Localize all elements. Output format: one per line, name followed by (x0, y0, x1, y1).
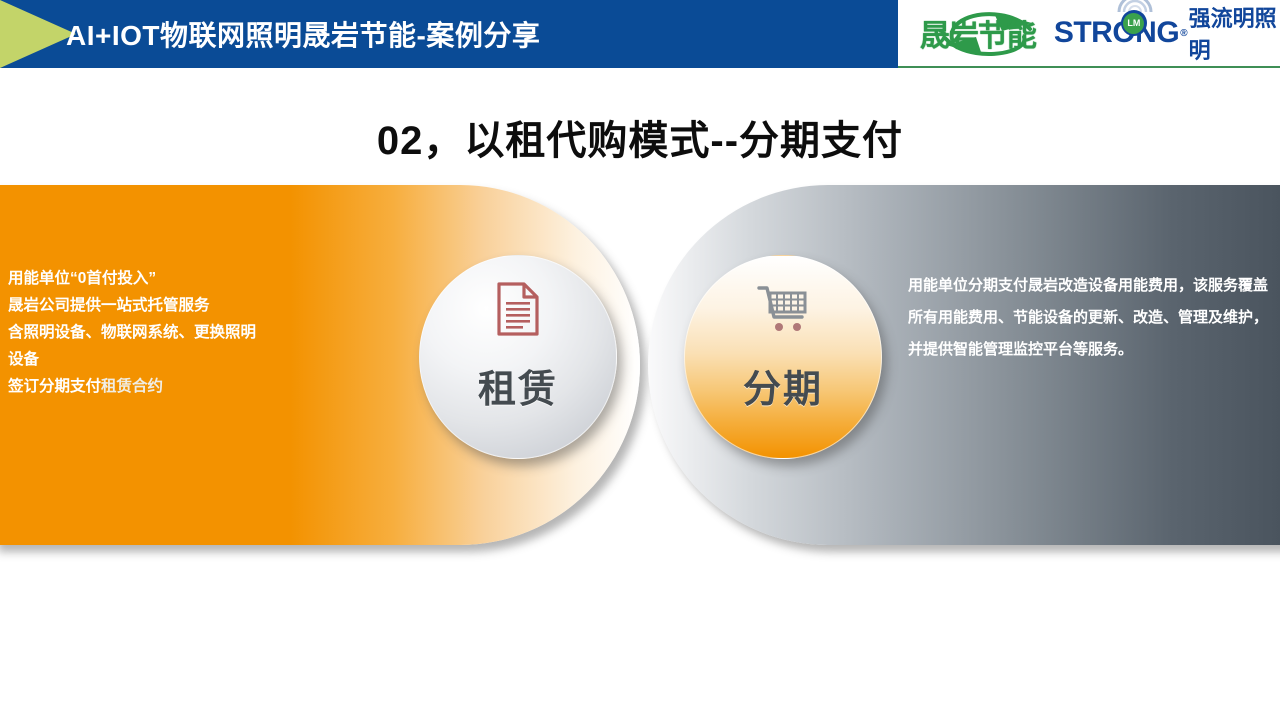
left-line-5: 签订分期支付租赁合约 (8, 373, 338, 400)
left-line-5-main: 签订分期支付 (8, 378, 101, 395)
shopping-cart-icon (756, 278, 810, 340)
left-panel-text: 用能单位“0首付投入” 晟岩公司提供一站式托管服务 含照明设备、物联网系统、更换… (8, 265, 338, 400)
installment-circle-label: 分期 (743, 358, 823, 413)
logo-o-ring: LM (1121, 10, 1147, 36)
logo-chinese-block: 晟岩节能 (904, 7, 1052, 59)
logo-brand-cn: 强流明照明 (1189, 1, 1280, 65)
logo-chinese-name: 晟岩节能 (920, 11, 1036, 55)
logo-lm-mark: LM (1123, 13, 1144, 34)
slide-title: 02，以租代购模式--分期支付 (0, 108, 1280, 166)
header-bar: AI+IOT物联网照明晟岩节能-案例分享 晟岩节能 STRONG LM ® 强流 (0, 0, 1280, 68)
left-line-3: 含照明设备、物联网系统、更换照明 (8, 319, 338, 346)
installment-circle[interactable]: 分期 (684, 255, 882, 459)
lease-circle[interactable]: 租赁 (419, 255, 617, 459)
left-line-5-accent: 租赁合约 (101, 378, 163, 395)
left-line-1: 用能单位“0首付投入” (8, 265, 338, 292)
company-logo: 晟岩节能 STRONG LM ® 强流明照明 (900, 0, 1280, 66)
left-line-4: 设备 (8, 346, 338, 373)
right-panel-text: 用能单位分期支付晟岩改造设备用能费用，该服务覆盖所有用能费用、节能设备的更新、改… (908, 270, 1276, 366)
logo-underline (898, 66, 1280, 68)
registered-icon: ® (1180, 28, 1187, 39)
header-title: AI+IOT物联网照明晟岩节能-案例分享 (66, 0, 540, 68)
left-line-2: 晟岩公司提供一站式托管服务 (8, 292, 338, 319)
document-icon (496, 278, 540, 340)
lease-circle-label: 租赁 (478, 358, 558, 413)
logo-english-block: STRONG LM ® 强流明照明 (1054, 1, 1280, 65)
content-panels: 用能单位“0首付投入” 晟岩公司提供一站式托管服务 含照明设备、物联网系统、更换… (0, 185, 1280, 555)
logo-brand-en: STRONG (1054, 16, 1179, 50)
